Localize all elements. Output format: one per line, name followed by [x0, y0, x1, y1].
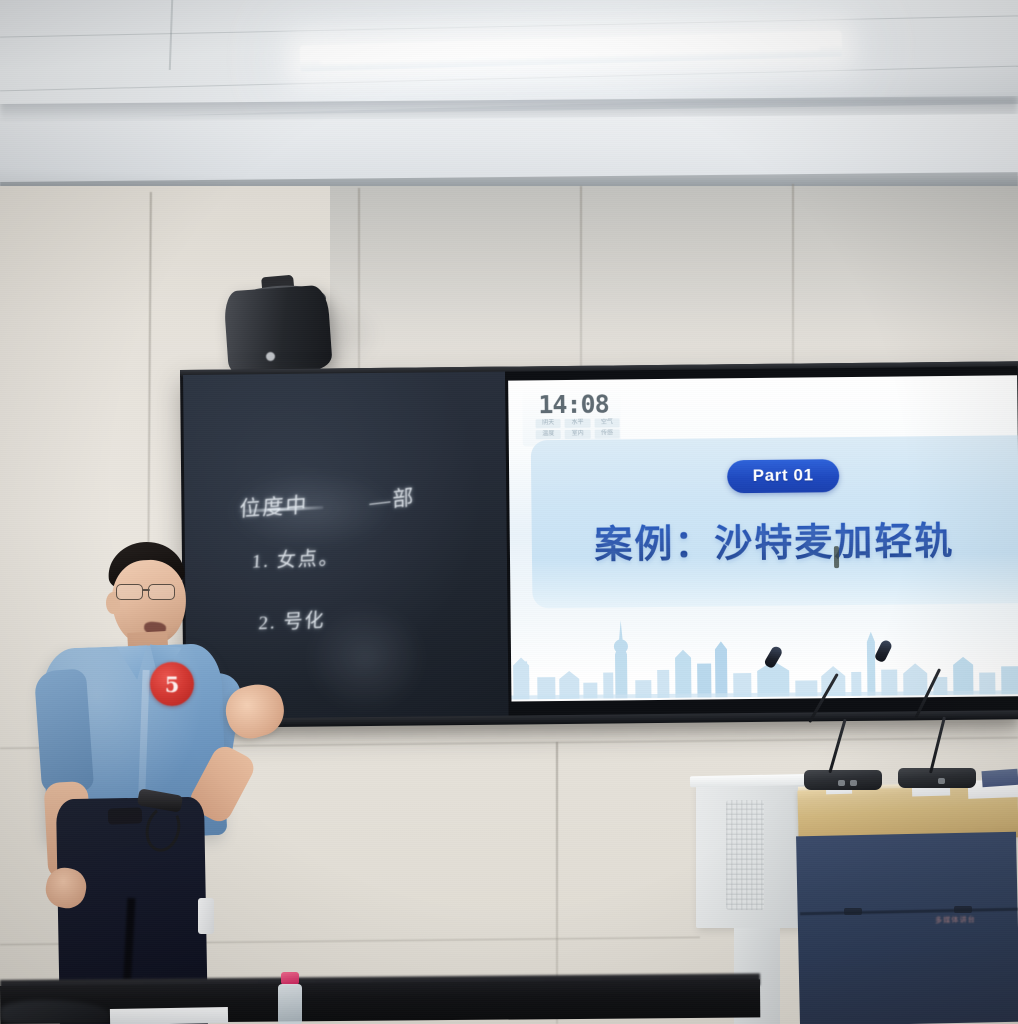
chalk-line: —部: [369, 481, 415, 516]
water-bottle[interactable]: [277, 972, 303, 1024]
microphone-button[interactable]: [838, 780, 845, 786]
presenter: [0, 520, 330, 1024]
glasses-lens-right: [148, 584, 175, 600]
chalk-line: 位度中: [239, 489, 309, 523]
presenter-belt: [108, 807, 143, 824]
lectern-folder[interactable]: [981, 769, 1018, 787]
lectern-body: [796, 832, 1018, 1024]
glasses-lens-left: [116, 584, 143, 600]
microphone-button[interactable]: [938, 778, 945, 784]
lectern-latch[interactable]: [844, 908, 862, 915]
glasses-icon: [116, 584, 182, 601]
shirt-badge: 5: [150, 662, 194, 706]
lectern-latch[interactable]: [954, 906, 972, 913]
lectern-grille: [726, 800, 764, 910]
bottle-body: [278, 984, 302, 1024]
microphone-base: [898, 768, 976, 788]
presenter-left-sleeve: [34, 668, 94, 793]
wall-fixture: [198, 898, 214, 934]
desk-paper[interactable]: [110, 1007, 228, 1024]
microphone-button[interactable]: [850, 780, 857, 786]
classroom-photo: 14:08 阴天 水平 空气 温度 室内 传感 Part 01 案例：沙特麦加轻…: [0, 0, 1018, 1024]
lectern-label: 多媒体讲台: [935, 915, 976, 926]
